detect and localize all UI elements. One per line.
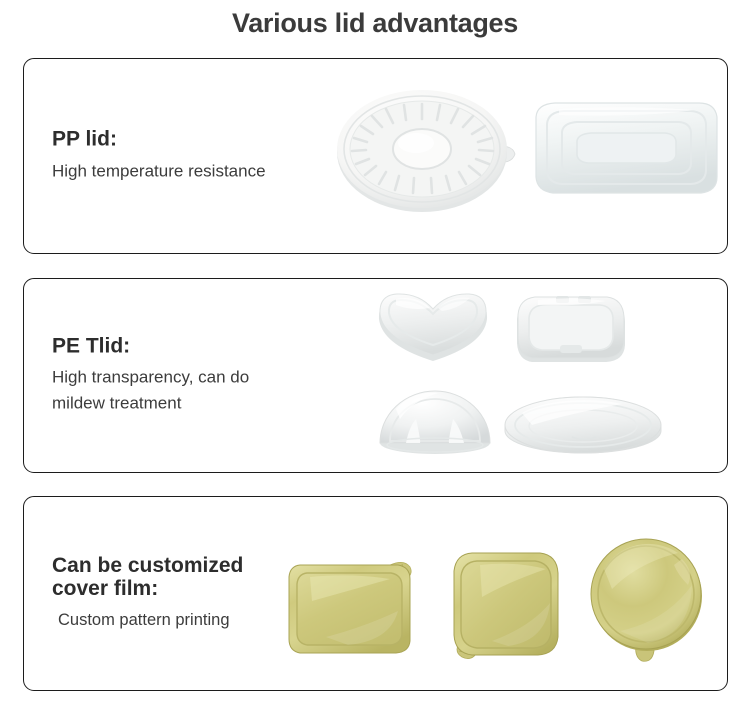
panel-film-product-images xyxy=(324,497,727,690)
panel-film-text-block: Can be customized cover film: Custom pat… xyxy=(52,554,243,634)
panel-pe-heading: PE Tlid: xyxy=(52,334,249,358)
panel-film-subtext: Custom pattern printing xyxy=(52,608,243,634)
panel-pe-product-images xyxy=(324,279,727,472)
panel-pp-heading: PP lid: xyxy=(52,128,266,152)
panel-pe-text-block: PE Tlid: High transparency, can do milde… xyxy=(52,334,249,417)
panel-pp-subtext: High temperature resistance xyxy=(52,158,266,184)
panel-pe-subtext: High transparency, can do mildew treatme… xyxy=(52,364,249,417)
panel-pp-lid: PP lid: High temperature resistance xyxy=(23,58,728,254)
rectangular-gold-cover-film-image xyxy=(286,549,421,659)
oval-pe-lid-image xyxy=(502,385,664,457)
panel-cover-film: Can be customized cover film: Custom pat… xyxy=(23,496,728,691)
rectangular-pp-lid-image xyxy=(529,81,724,213)
round-ribbed-pp-lid-image xyxy=(334,85,524,215)
page-title: Various lid advantages xyxy=(0,8,750,39)
panel-pe-lid: PE Tlid: High transparency, can do milde… xyxy=(23,278,728,473)
square-gold-cover-film-image xyxy=(446,545,566,665)
panel-pp-product-images xyxy=(324,59,727,253)
round-dome-pe-lid-image xyxy=(376,379,494,457)
round-gold-cover-film-image xyxy=(586,539,708,665)
panel-film-heading: Can be customized cover film: xyxy=(52,554,243,601)
heart-shaped-pe-lid-image xyxy=(372,289,494,369)
panel-pp-text-block: PP lid: High temperature resistance xyxy=(52,128,266,185)
square-pe-lid-image xyxy=(512,287,632,369)
